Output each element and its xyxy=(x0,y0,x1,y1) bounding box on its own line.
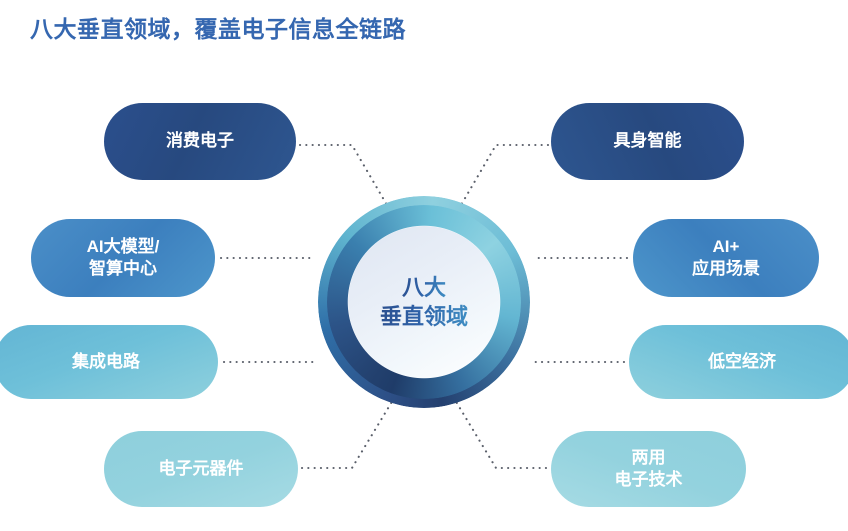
pill-label: 两用 电子技术 xyxy=(615,447,683,491)
hub-title-line-2: 垂直领域 xyxy=(380,302,468,331)
connector-components xyxy=(302,400,393,468)
pill-electronic-components[interactable]: 电子元器件 xyxy=(104,431,298,507)
pill-integrated-circuit[interactable]: 集成电路 xyxy=(0,325,218,399)
pill-embodied-ai[interactable]: 具身智能 xyxy=(551,103,744,180)
pill-low-altitude[interactable]: 低空经济 xyxy=(629,325,848,399)
pill-dual-use-technology[interactable]: 两用 电子技术 xyxy=(551,431,746,507)
pill-label: AI大模型/ 智算中心 xyxy=(87,236,160,280)
pill-label: 集成电路 xyxy=(72,351,140,373)
pill-label: 电子元器件 xyxy=(159,458,244,480)
pill-ai-model[interactable]: AI大模型/ 智算中心 xyxy=(31,219,215,297)
pill-ai-scenario[interactable]: AI+ 应用场景 xyxy=(633,219,819,297)
pill-label: 具身智能 xyxy=(614,130,682,152)
pill-label: AI+ 应用场景 xyxy=(692,236,760,280)
center-hub: 八大 垂直领域 xyxy=(318,196,530,408)
connector-dual-use xyxy=(455,400,546,468)
pill-label: 低空经济 xyxy=(708,351,776,373)
slide-canvas: 八大垂直领域，覆盖电子信息全链路 八大 垂直领域 消费电子 具身智能 AI大模型… xyxy=(0,0,848,531)
hub-inner-disc: 八大 垂直领域 xyxy=(348,226,500,378)
pill-label: 消费电子 xyxy=(166,130,234,152)
hub-title-line-1: 八大 xyxy=(402,273,446,302)
pill-consumer-electronics[interactable]: 消费电子 xyxy=(104,103,296,180)
